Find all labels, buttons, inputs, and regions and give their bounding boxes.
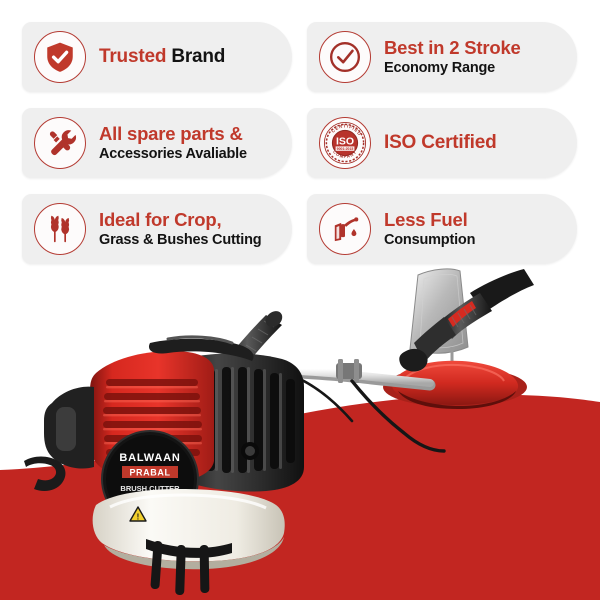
feature-card-spare-parts[interactable]: All spare parts & Accessories Avaliable	[22, 108, 292, 178]
feature-card-ideal-for-crop[interactable]: Ideal for Crop, Grass & Bushes Cutting	[22, 194, 292, 264]
feature-card-less-fuel[interactable]: Less Fuel Consumption	[307, 194, 577, 264]
feature-headline: Best in 2 Stroke	[384, 38, 521, 59]
feature-subline: Grass & Bushes Cutting	[99, 232, 261, 248]
feature-card-best-in-2-stroke[interactable]: Best in 2 Stroke Economy Range	[307, 22, 577, 92]
product-feature-banner: Trusted Brand Best in 2 Stroke Economy R…	[0, 0, 600, 600]
circle-check-icon	[319, 31, 371, 83]
feature-subline: Accessories Avaliable	[99, 146, 247, 162]
feature-card-grid: Trusted Brand Best in 2 Stroke Economy R…	[22, 22, 578, 264]
engine-assembly: BALWAAN PRABAL BRUSH CUTTER BC-52 2 STRO…	[24, 337, 304, 595]
warning-symbol: !	[137, 513, 140, 522]
feature-headline: All spare parts &	[99, 124, 247, 145]
tools-icon	[34, 117, 86, 169]
feature-text: Trusted Brand	[99, 46, 231, 67]
shield-check-icon	[34, 31, 86, 83]
feature-card-iso-certified[interactable]: CERTIFIED COMPANY ISO 9001:2015 ISO Cert…	[307, 108, 577, 178]
wheat-icon	[34, 203, 86, 255]
brush-cutter-product-image: BALWAAN PRABAL BRUSH CUTTER BC-52 2 STRO…	[0, 255, 600, 600]
feature-text: ISO Certified	[384, 132, 502, 153]
feature-headline: Trusted Brand	[99, 46, 225, 67]
feature-text: Best in 2 Stroke Economy Range	[384, 38, 527, 76]
feature-text: Less Fuel Consumption	[384, 210, 481, 248]
fuel-nozzle-icon	[319, 203, 371, 255]
iso-center-text: ISO	[336, 136, 354, 148]
feature-text: Ideal for Crop, Grass & Bushes Cutting	[99, 210, 267, 248]
feature-subline: Economy Range	[384, 60, 521, 76]
iso-seal-icon: CERTIFIED COMPANY ISO 9001:2015	[319, 117, 371, 169]
label-brand: BALWAAN	[119, 452, 180, 464]
feature-headline: Less Fuel	[384, 210, 475, 231]
feature-text: All spare parts & Accessories Avaliable	[99, 124, 253, 162]
feature-headline: Ideal for Crop,	[99, 210, 261, 231]
iso-standard-text: 9001:2015	[337, 147, 354, 151]
feature-headline: ISO Certified	[384, 132, 496, 153]
feature-card-trusted-brand[interactable]: Trusted Brand	[22, 22, 292, 92]
label-model: PRABAL	[129, 468, 170, 478]
feature-subline: Consumption	[384, 232, 475, 248]
secondary-cable	[300, 379, 352, 421]
